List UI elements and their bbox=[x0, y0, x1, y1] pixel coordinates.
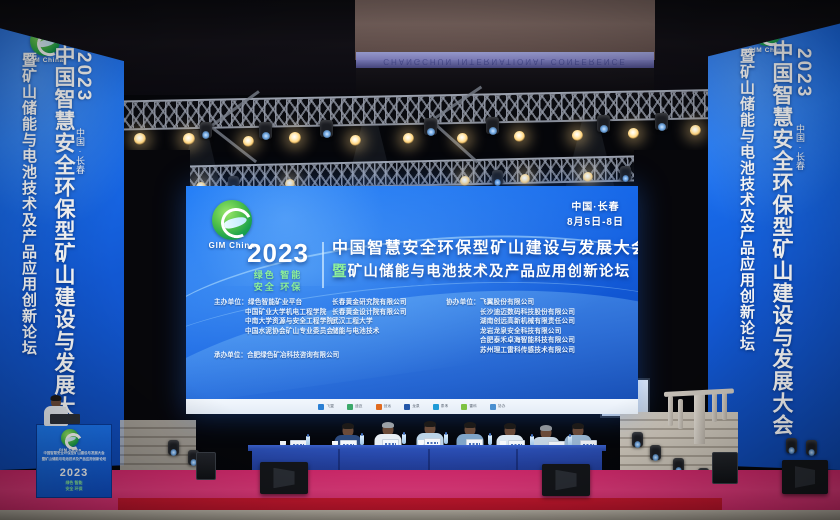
banner-pillar-right: GIM China 2023 中国·长春 中国智慧安全环保型矿山建设与发展大会 … bbox=[708, 0, 840, 470]
wall-signage-text: CHANGCHUN INTERNATIONAL CONFERENCE bbox=[356, 54, 654, 68]
standee-slogan-2: 安全 环保 bbox=[37, 486, 111, 492]
screen-year: 2023 bbox=[236, 240, 320, 266]
sponsor-logo-7: 协办 bbox=[490, 404, 506, 410]
screen-title-block: 中国智慧安全环保型矿山建设与发展大会 暨矿山储能与电池技术及产品应用创新论坛 bbox=[332, 238, 628, 283]
spotlight-16 bbox=[460, 176, 470, 186]
screen-title-line2-text: 矿山储能与电池技术及产品应用创新论坛 bbox=[348, 264, 631, 280]
screen-slogan-2: 安全 环保 bbox=[236, 281, 320, 293]
sponsor-logo-6: 雷科 bbox=[461, 404, 477, 410]
baluster-3 bbox=[712, 392, 717, 422]
sponsor-logo-5: 泰禾 bbox=[433, 404, 449, 410]
organizer-label: 主办单位： bbox=[214, 298, 248, 308]
screen-date-range: 8月5日-8日 bbox=[567, 215, 624, 230]
standee-year: 2023 bbox=[37, 467, 111, 479]
baluster-2 bbox=[678, 399, 683, 429]
baluster-1 bbox=[668, 396, 673, 426]
spotlight-4 bbox=[243, 136, 254, 147]
undertaker-label: 承办单位： bbox=[214, 351, 247, 361]
screen-slogan-1: 绿色 智能 bbox=[236, 269, 320, 281]
screen-title-line2-lead: 暨 bbox=[332, 264, 348, 280]
moving-head-light-1 bbox=[200, 122, 212, 138]
gim-china-logo-main: GIM China bbox=[212, 200, 252, 240]
moving-head-light-11 bbox=[620, 166, 631, 181]
water-bottle-4 bbox=[444, 434, 448, 444]
spotlight-12 bbox=[690, 125, 701, 136]
organizer-5: 长春黄金研究院有限公司 bbox=[332, 298, 428, 308]
water-bottle-3 bbox=[402, 434, 406, 444]
stage-right-shadow bbox=[634, 150, 714, 390]
spotlight-8 bbox=[457, 133, 468, 144]
moving-head-light-5 bbox=[486, 117, 499, 134]
banner-right-title-main: 中国智慧安全环保型矿山建设与发展大会 bbox=[766, 40, 796, 436]
organizer-7: 武汉工程大学 bbox=[332, 317, 428, 327]
moving-head-light-2 bbox=[259, 122, 272, 139]
screen-date-block: 中国·长春 8月5日-8日 bbox=[567, 200, 624, 230]
stair-light-8 bbox=[806, 440, 817, 455]
equipment-case bbox=[712, 452, 738, 484]
credits-organizer-col2: 长春黄金研究院有限公司 长春黄金设计院有限公司 武汉工程大学 储能与电池技术 bbox=[332, 298, 428, 356]
stage-monitor-speaker-4 bbox=[782, 460, 828, 494]
floor-standee-banner: GIM China 中国智慧安全环保型矿山建设与发展大会 暨矿山储能与电池技术及… bbox=[36, 424, 112, 498]
cohost-1: 飞翼股份有限公司 bbox=[480, 299, 534, 306]
cohost-5: 合肥泰禾卓海智能科技有限公司 bbox=[446, 336, 575, 346]
cohost-label: 协办单位： bbox=[446, 298, 480, 308]
main-led-screen: GIM China 中国·长春 8月5日-8日 2023 绿色 智能 安全 环保… bbox=[186, 186, 638, 414]
spotlight-2 bbox=[134, 133, 146, 145]
banner-left-title-sub: 暨矿山储能与电池技术及产品应用创新论坛 bbox=[18, 52, 39, 356]
organizer-1: 绿色智能矿业平台 bbox=[248, 299, 302, 306]
spotlight-7 bbox=[403, 133, 414, 144]
stage-left-shadow bbox=[118, 150, 190, 450]
screen-title-line2: 暨矿山储能与电池技术及产品应用创新论坛 bbox=[332, 262, 628, 283]
gim-china-logo-standee: GIM China bbox=[61, 429, 79, 447]
sponsor-logo-strip: 飞翼 迪迈 创远 龙泉 泰禾 雷科 协办 bbox=[186, 399, 638, 414]
screen-location: 中国·长春 bbox=[567, 200, 624, 215]
spotlight-18 bbox=[583, 172, 593, 182]
stair-newel-post bbox=[694, 392, 705, 444]
organizer-8: 储能与电池技术 bbox=[332, 327, 428, 337]
spotlight-3 bbox=[183, 133, 195, 145]
stair-light-1 bbox=[632, 432, 643, 447]
standee-title: 中国智慧安全环保型矿山建设与发展大会 bbox=[41, 451, 107, 456]
conference-stage-photo: CHANGCHUN INTERNATIONAL CONFERENCE bbox=[0, 0, 840, 520]
back-wall bbox=[355, 0, 655, 60]
technician-desk bbox=[50, 414, 80, 424]
equipment-case-2 bbox=[196, 452, 216, 480]
stage-monitor-speaker-2 bbox=[260, 462, 308, 494]
baluster-4 bbox=[722, 390, 727, 420]
standee-subtitle: 暨矿山储能与电池技术及产品应用创新论坛 bbox=[41, 457, 107, 462]
cohost-4: 龙岩龙泉安全科技有限公司 bbox=[446, 327, 575, 337]
spotlight-6 bbox=[350, 135, 361, 146]
water-bottle-2 bbox=[360, 435, 364, 445]
credits-organizer-col1: 主办单位：绿色智能矿业平台 中国矿业大学机电工程学院 中南大学资源与安全工程学院… bbox=[214, 298, 332, 356]
screen-credits: 主办单位：绿色智能矿业平台 中国矿业大学机电工程学院 中南大学资源与安全工程学院… bbox=[214, 298, 626, 356]
credits-cohost-col: 协办单位：飞翼股份有限公司 长沙迪迈数码科技股份有限公司 湖南创远高新机械有限责… bbox=[446, 298, 575, 356]
stage-monitor-speaker-3 bbox=[542, 464, 590, 496]
moving-head-light-10 bbox=[492, 170, 503, 185]
undertaker-value: 合肥绿色矿冶科技咨询有限公司 bbox=[247, 352, 339, 359]
spotlight-9 bbox=[514, 131, 525, 142]
cohost-6: 苏州理工雷科传感技术有限公司 bbox=[446, 346, 575, 356]
spotlight-17 bbox=[520, 174, 530, 184]
spotlight-10 bbox=[572, 130, 583, 141]
stage-front-edge bbox=[0, 510, 840, 520]
organizer-3: 中南大学资源与安全工程学院 bbox=[214, 317, 332, 327]
stair-light-2 bbox=[650, 445, 661, 460]
screen-year-block: 2023 绿色 智能 安全 环保 bbox=[236, 240, 320, 293]
water-bottle-5 bbox=[488, 435, 492, 445]
sponsor-logo-2: 迪迈 bbox=[347, 404, 363, 410]
moving-head-light-3 bbox=[320, 120, 333, 137]
organizer-4: 中国水泥协会矿山专业委员会 bbox=[214, 327, 332, 337]
stair-light-5 bbox=[168, 440, 179, 455]
sponsor-logo-4: 龙泉 bbox=[404, 404, 420, 410]
moving-head-light-6 bbox=[597, 115, 610, 132]
banner-pillar-left: GIM China 2023 中国·长春 中国智慧安全环保型矿山建设与发展大会 … bbox=[0, 0, 124, 470]
cohost-3: 湖南创远高新机械有限责任公司 bbox=[446, 317, 575, 327]
credits-undertaker-row: 承办单位：合肥绿色矿冶科技咨询有限公司 bbox=[214, 351, 339, 361]
stage-stairs-left bbox=[120, 420, 196, 474]
spotlight-11 bbox=[628, 128, 639, 139]
title-divider bbox=[322, 242, 324, 288]
spotlight-5 bbox=[289, 132, 301, 144]
organizer-2: 中国矿业大学机电工程学院 bbox=[214, 308, 332, 318]
organizer-6: 长春黄金设计院有限公司 bbox=[332, 308, 428, 318]
banner-left-title-main: 中国智慧安全环保型矿山建设与发展大会 bbox=[48, 44, 78, 440]
banner-right-title-sub: 暨矿山储能与电池技术及产品应用创新论坛 bbox=[736, 48, 757, 352]
cohost-2: 长沙迪迈数码科技股份有限公司 bbox=[446, 308, 575, 318]
moving-head-light-4 bbox=[424, 118, 437, 135]
moving-head-light-7 bbox=[655, 113, 668, 130]
stair-light-7 bbox=[786, 438, 797, 453]
sponsor-logo-3: 创远 bbox=[376, 404, 392, 410]
sponsor-logo-1: 飞翼 bbox=[318, 404, 334, 410]
screen-title-line1: 中国智慧安全环保型矿山建设与发展大会 bbox=[332, 238, 628, 260]
